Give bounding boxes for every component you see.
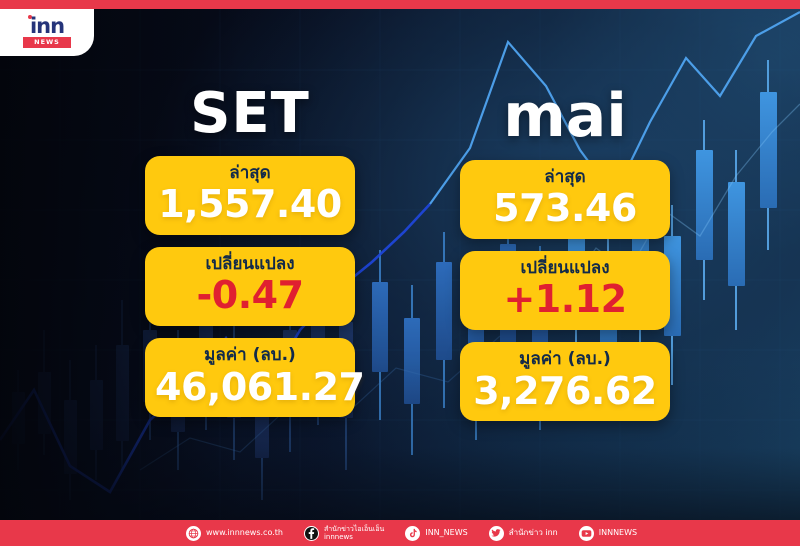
logo-wordmark: inn [16,15,78,37]
footer-item-youtube[interactable]: INNNEWS [579,526,637,541]
stat-card-set-value: มูลค่า (ลบ.) 46,061.27 [145,338,355,417]
stat-value: 3,276.62 [470,372,660,412]
footer-item-facebook[interactable]: สำนักข่าวไอเอ็นเอ็น innnews [304,525,384,542]
footer-social-bar: www.innnews.co.th สำนักข่าวไอเอ็นเอ็น in… [0,520,800,546]
globe-icon [186,526,201,541]
index-column-set: SET ล่าสุด 1,557.40 เปลี่ยนแปลง -0.47 มู… [145,86,355,429]
stat-card-mai-change: เปลี่ยนแปลง +1.12 [460,251,670,330]
youtube-icon [579,526,594,541]
stat-value: 46,061.27 [155,368,345,408]
index-title-mai: mai [460,86,670,146]
stat-value: 573.46 [470,189,660,229]
footer-item-twitter[interactable]: สำนักข่าว inn [489,526,558,541]
index-column-mai: mai ล่าสุด 573.46 เปลี่ยนแปลง +1.12 มูลค… [460,86,670,433]
footer-label: INN_NEWS [425,528,467,537]
stat-label: ล่าสุด [470,167,660,188]
stat-value: +1.12 [470,280,660,320]
stat-label: มูลค่า (ลบ.) [155,345,345,366]
footer-label-line2: innnews [324,533,353,541]
infographic-canvas: inn NEWS SET ล่าสุด 1,557.40 เปลี่ยนแปลง… [0,0,800,546]
footer-label: INNNEWS [599,528,637,537]
footer-label: สำนักข่าวไอเอ็นเอ็น innnews [324,525,384,542]
footer-item-tiktok[interactable]: INN_NEWS [405,526,467,541]
index-title-set: SET [145,86,355,142]
stat-card-set-change: เปลี่ยนแปลง -0.47 [145,247,355,326]
stat-card-set-last: ล่าสุด 1,557.40 [145,156,355,235]
footer-label-line1: สำนักข่าวไอเอ็นเอ็น [324,525,384,533]
footer-label: สำนักข่าว inn [509,528,558,537]
footer-item-website[interactable]: www.innnews.co.th [186,526,283,541]
stat-label: เปลี่ยนแปลง [470,258,660,279]
inn-news-logo[interactable]: inn NEWS [0,9,94,56]
facebook-icon [304,526,319,541]
stat-card-mai-value: มูลค่า (ลบ.) 3,276.62 [460,342,670,421]
logo-news-badge: NEWS [23,37,71,48]
stat-label: มูลค่า (ลบ.) [470,349,660,370]
tiktok-icon [405,526,420,541]
top-accent-bar [0,0,800,9]
stat-label: ล่าสุด [155,163,345,184]
stat-value: -0.47 [155,276,345,316]
stat-card-mai-last: ล่าสุด 573.46 [460,160,670,239]
background-vignette [0,0,800,546]
stat-label: เปลี่ยนแปลง [155,254,345,275]
stat-value: 1,557.40 [155,185,345,225]
footer-label: www.innnews.co.th [206,528,283,537]
twitter-icon [489,526,504,541]
